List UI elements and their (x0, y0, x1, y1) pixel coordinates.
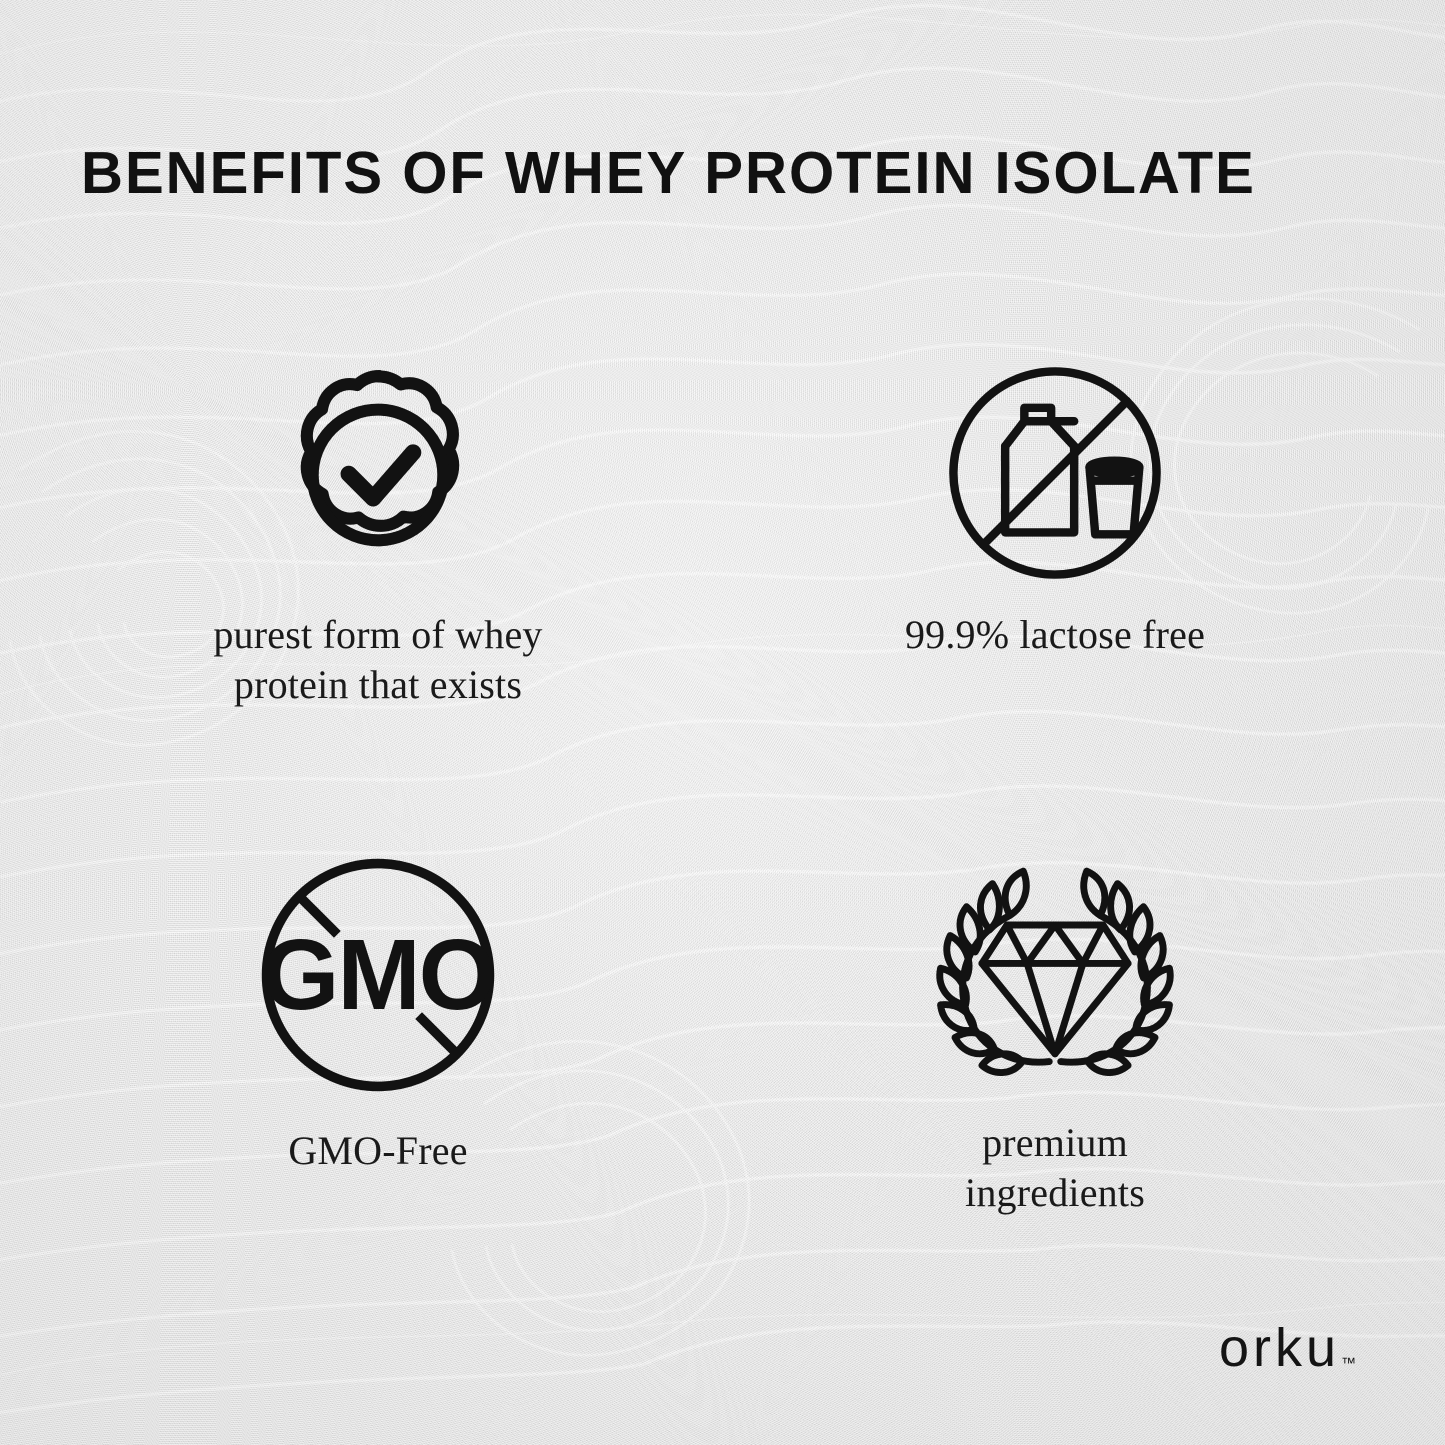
trademark-symbol: ™ (1341, 1356, 1356, 1371)
benefit-caption-line2: protein that exists (213, 660, 542, 710)
gmo-icon-label: GMO (262, 919, 495, 1031)
brand-name: orku (1219, 1321, 1340, 1375)
benefit-item-lactose-free: 99.9% lactose free (805, 348, 1305, 660)
benefit-caption: premium ingredients (965, 1118, 1145, 1218)
laurel-diamond-icon (930, 850, 1180, 1100)
benefit-item-purest-form: purest form of whey protein that exists (128, 348, 628, 710)
benefit-caption-line1: premium (965, 1118, 1145, 1168)
no-dairy-icon (930, 348, 1180, 598)
no-gmo-icon: GMO (253, 850, 503, 1100)
benefit-item-gmo-free: GMO GMO-Free (128, 850, 628, 1176)
benefit-caption-line1: purest form of whey (213, 610, 542, 660)
benefit-caption-line1: GMO-Free (288, 1126, 467, 1176)
benefit-caption: purest form of whey protein that exists (213, 610, 542, 710)
benefits-grid: purest form of whey protein that exists (0, 0, 1445, 1445)
poster-canvas: BENEFITS OF WHEY PROTEIN ISOLATE pu (0, 0, 1445, 1445)
benefit-item-premium-ingredients: premium ingredients (805, 850, 1305, 1218)
benefit-caption-line2: ingredients (965, 1168, 1145, 1218)
brand-logo: orku ™ (1219, 1321, 1356, 1375)
badge-check-icon (253, 348, 503, 598)
benefit-caption: GMO-Free (288, 1126, 467, 1176)
benefit-caption-line1: 99.9% lactose free (905, 610, 1205, 660)
benefit-caption: 99.9% lactose free (905, 610, 1205, 660)
